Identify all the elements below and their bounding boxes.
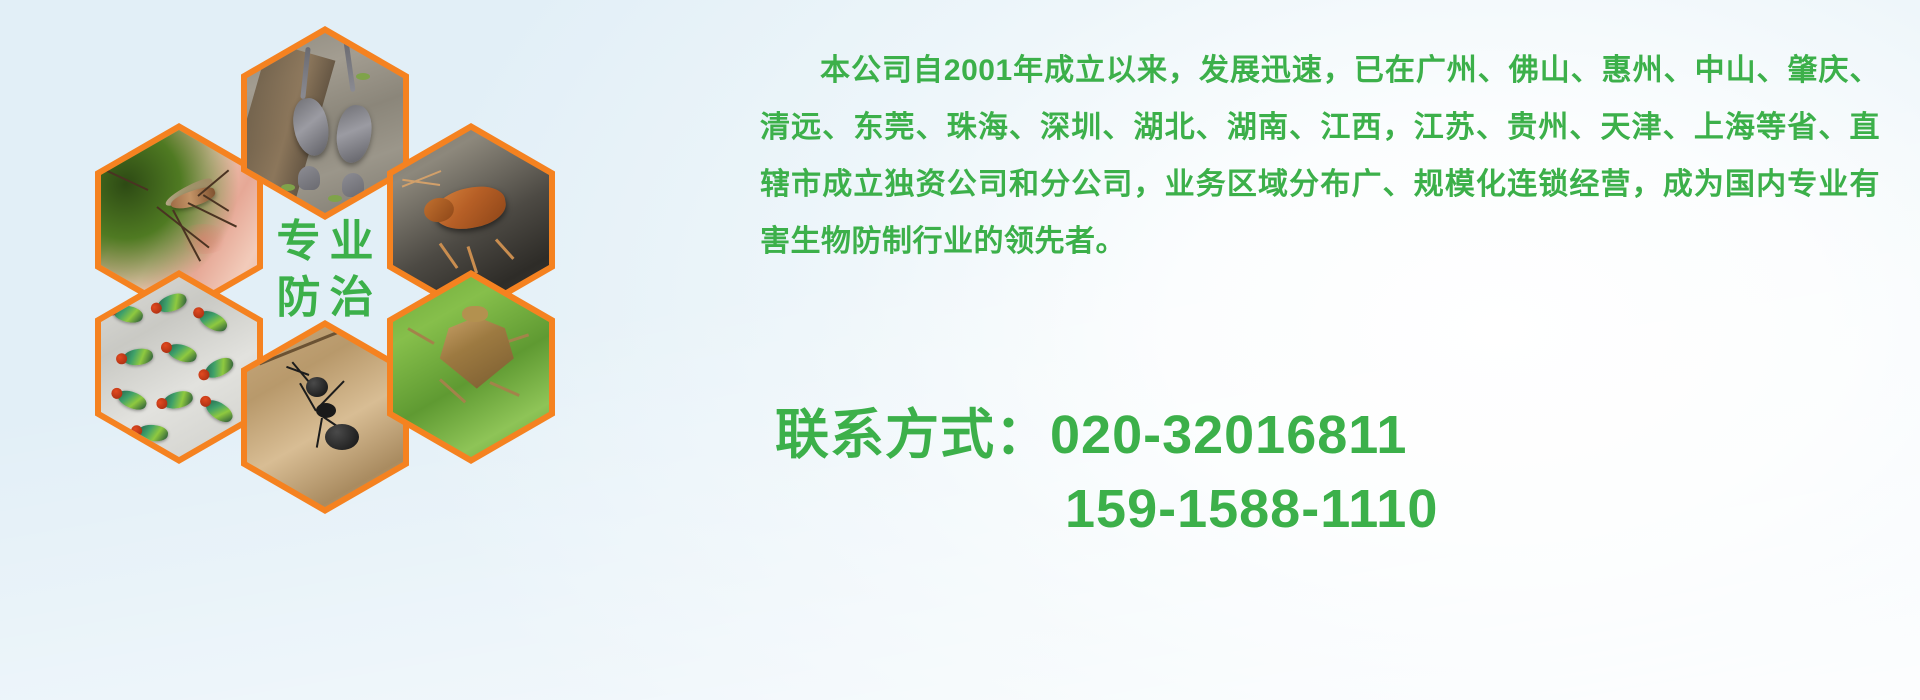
flies-photo: [101, 277, 257, 457]
contact-phone-secondary[interactable]: 159-1588-1110: [775, 472, 1438, 546]
fly: [115, 387, 149, 413]
mosquito-leg: [106, 170, 149, 191]
stinkbug-body: [440, 317, 514, 389]
mosquito-proboscis: [203, 194, 230, 212]
ant-thorax: [316, 403, 336, 418]
hex-inner-flies: [101, 277, 257, 457]
company-intro-block: 本公司自2001年成立以来，发展迅速，已在广州、佛山、惠州、中山、肇庆、清远、东…: [760, 42, 1880, 270]
rat-body: [334, 103, 376, 165]
cockroach-leg: [439, 242, 459, 268]
leaf-debris: [356, 73, 370, 80]
ant-head: [306, 377, 328, 397]
fly: [122, 347, 154, 367]
fly: [138, 423, 170, 442]
stinkbug-leg: [489, 382, 519, 398]
fly: [196, 307, 230, 335]
fly: [165, 341, 198, 365]
stinkbug-leg: [407, 327, 434, 345]
fly: [155, 290, 189, 315]
fly: [202, 396, 236, 426]
ant-photo: [247, 327, 403, 507]
fly: [162, 389, 195, 412]
center-label-line-2: 防治: [268, 270, 383, 326]
honeycomb-gallery: 专业 防治: [95, 8, 595, 568]
hex-inner-ant: [247, 327, 403, 507]
stinkbug-leg: [439, 378, 466, 403]
stinkbug-photo: [393, 277, 549, 457]
ant-leg: [316, 418, 323, 448]
cockroach-leg: [495, 238, 515, 259]
hex-cell-stinkbug[interactable]: [387, 270, 555, 464]
hex-cell-flies[interactable]: [95, 270, 263, 464]
rat-tail: [343, 40, 355, 92]
pest-control-banner: 专业 防治: [0, 0, 1920, 700]
fly: [202, 354, 236, 382]
ant-abdomen: [325, 424, 359, 450]
contact-block: 联系方式：020-32016811 159-1588-1110: [775, 398, 1438, 546]
hex-cell-ant[interactable]: [241, 320, 409, 514]
contact-phone-primary[interactable]: 联系方式：020-32016811: [775, 398, 1438, 472]
fly: [112, 303, 145, 325]
hex-inner-stinkbug: [393, 277, 549, 457]
stinkbug-head: [462, 306, 488, 322]
company-intro-paragraph: 本公司自2001年成立以来，发展迅速，已在广州、佛山、惠州、中山、肇庆、清远、东…: [760, 42, 1880, 270]
cockroach-leg: [466, 246, 478, 274]
center-label-line-1: 专业: [268, 214, 383, 270]
